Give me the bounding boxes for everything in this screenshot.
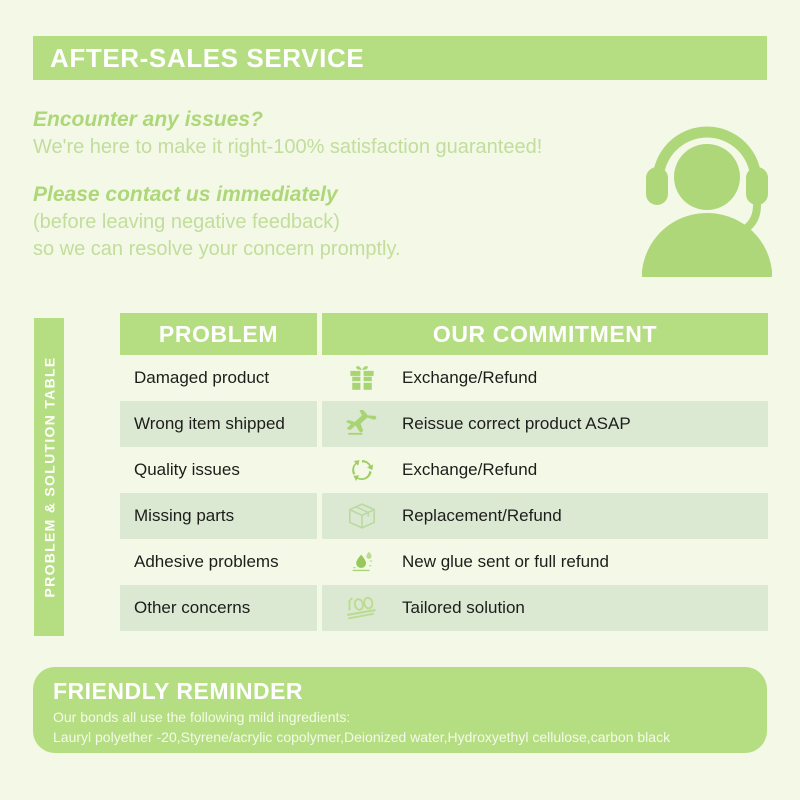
commitment-text: Reissue correct product ASAP	[402, 414, 631, 434]
vertical-section-label-text: PROBLEM & SOLUTION TABLE	[41, 357, 57, 598]
cell-problem: Wrong item shipped	[120, 401, 317, 447]
commitment-text: New glue sent or full refund	[402, 552, 609, 572]
cell-commitment: Replacement/Refund	[322, 493, 768, 539]
cell-commitment: Exchange/Refund	[322, 447, 768, 493]
cell-problem: Quality issues	[120, 447, 317, 493]
hundred-points-icon	[322, 594, 402, 622]
headset-support-agent-icon	[622, 105, 792, 285]
column-header-commitment: OUR COMMITMENT	[322, 313, 768, 355]
reminder-ingredients-line: Lauryl polyether -20,Styrene/acrylic cop…	[53, 727, 747, 747]
commitment-text: Exchange/Refund	[402, 368, 537, 388]
cell-commitment: Exchange/Refund	[322, 355, 768, 401]
commitment-text: Tailored solution	[402, 598, 525, 618]
table-row: Quality issues Exchange/Refund	[120, 447, 768, 493]
intro-contact-cta: Please contact us immediately	[33, 181, 633, 209]
intro-resolve-note: so we can resolve your concern promptly.	[33, 236, 633, 263]
after-sales-banner: AFTER-SALES SERVICE	[33, 36, 767, 80]
airplane-icon	[322, 410, 402, 438]
cell-commitment: New glue sent or full refund	[322, 539, 768, 585]
intro-guarantee: We're here to make it right-100% satisfa…	[33, 134, 633, 161]
gift-icon	[322, 363, 402, 393]
table-header-row: PROBLEM OUR COMMITMENT	[120, 313, 768, 355]
commitment-text: Replacement/Refund	[402, 506, 562, 526]
cell-problem: Adhesive problems	[120, 539, 317, 585]
friendly-reminder-box: FRIENDLY REMINDER Our bonds all use the …	[33, 667, 767, 753]
recycle-icon	[322, 456, 402, 484]
vertical-section-label: PROBLEM & SOLUTION TABLE	[34, 318, 64, 636]
cell-problem: Other concerns	[120, 585, 317, 631]
intro-question: Encounter any issues?	[33, 106, 633, 134]
cell-problem: Missing parts	[120, 493, 317, 539]
table-row: Damaged product Exchange/Refund	[120, 355, 768, 401]
column-header-problem: PROBLEM	[120, 313, 317, 355]
intro-block: Encounter any issues? We're here to make…	[33, 106, 633, 263]
cell-commitment: Tailored solution	[322, 585, 768, 631]
commitment-text: Exchange/Refund	[402, 460, 537, 480]
table-row: Adhesive problems New glue sent or full …	[120, 539, 768, 585]
intro-feedback-note: (before leaving negative feedback)	[33, 209, 633, 236]
droplet-icon	[322, 548, 402, 576]
table-row: Wrong item shipped Reissue correct produ…	[120, 401, 768, 447]
problem-solution-table: PROBLEM OUR COMMITMENT Damaged product E…	[120, 313, 768, 631]
intro-spacer	[33, 161, 633, 181]
cell-commitment: Reissue correct product ASAP	[322, 401, 768, 447]
table-row: Missing parts Replacement/Refund	[120, 493, 768, 539]
table-row: Other concerns Tailored solution	[120, 585, 768, 631]
box-icon	[322, 501, 402, 531]
reminder-title: FRIENDLY REMINDER	[53, 678, 747, 705]
page-title: AFTER-SALES SERVICE	[33, 43, 364, 74]
reminder-intro-line: Our bonds all use the following mild ing…	[53, 707, 747, 727]
cell-problem: Damaged product	[120, 355, 317, 401]
